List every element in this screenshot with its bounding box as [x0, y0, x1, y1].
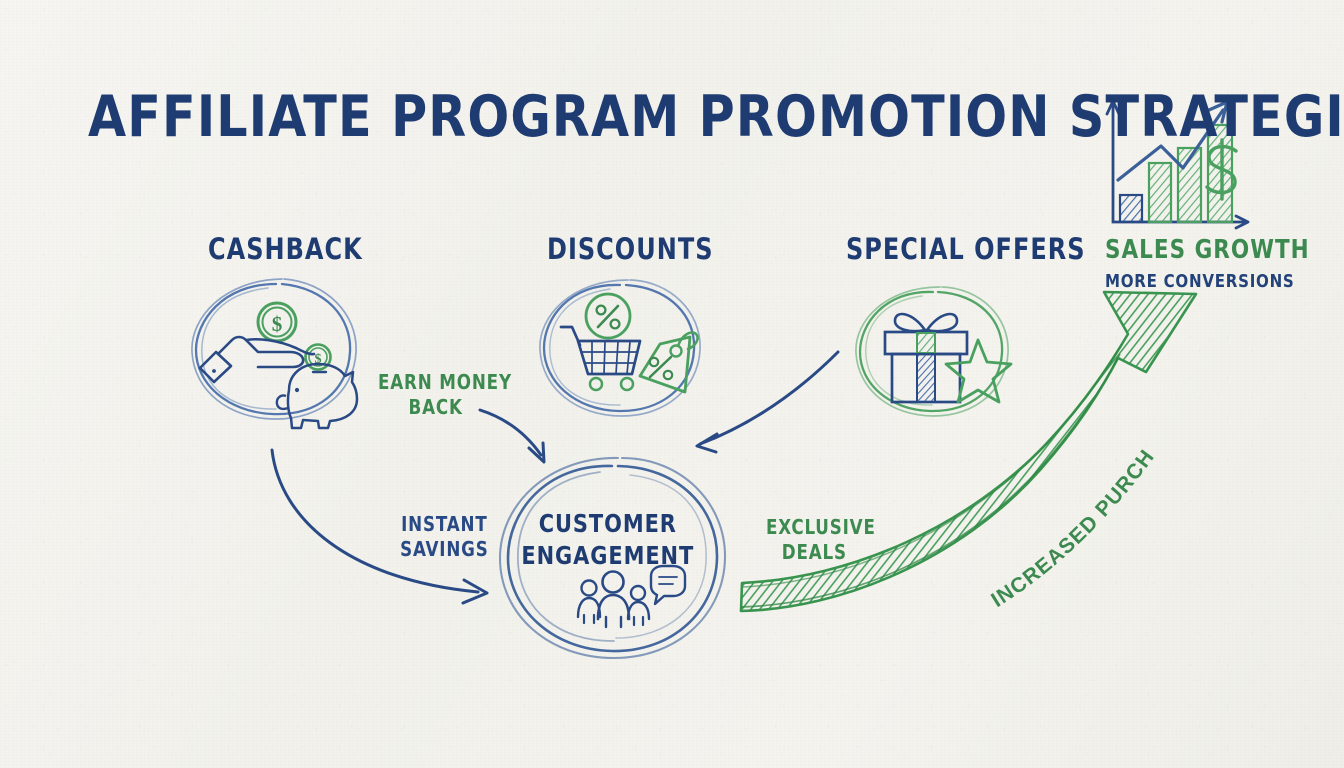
gift-box-star-icon [885, 314, 1011, 402]
connector-label-instant-savings: INSTANT SAVINGS [396, 512, 493, 562]
node-label-discounts: DISCOUNTS [547, 232, 714, 266]
node-label-special-offers: SPECIAL OFFERS [846, 232, 1086, 266]
connector-label-earn-money-back: EARN MONEY BACK [378, 370, 493, 420]
center-label-line1: CUSTOMER [512, 508, 704, 540]
arrow-special-offers-to-center [697, 352, 838, 452]
people-group-speech-bubble-icon [578, 566, 685, 627]
infographic-canvas: $ $ [0, 0, 1344, 768]
connector-label-line2: DEALS [766, 540, 863, 565]
connector-label-line1: EXCLUSIVE [766, 515, 863, 540]
connector-label-line2: BACK [378, 395, 493, 420]
center-node-label: CUSTOMER ENGAGEMENT [512, 508, 704, 572]
page-title: AFFILIATE PROGRAM PROMOTION STRATEGIES [88, 84, 1344, 150]
node-label-cashback: CASHBACK [208, 232, 363, 266]
hand-coin-piggybank-icon: $ $ [200, 303, 357, 428]
cashback-ring [192, 279, 356, 419]
discounts-ring [540, 280, 700, 416]
shopping-cart-percent-tag-icon [561, 294, 698, 392]
center-label-line2: ENGAGEMENT [512, 540, 704, 572]
connector-label-line1: INSTANT [396, 512, 493, 537]
connector-label-exclusive-deals: EXCLUSIVE DEALS [766, 515, 863, 565]
outcome-title: SALES GROWTH [1105, 235, 1310, 265]
connector-label-line1: EARN MONEY [378, 370, 493, 395]
svg-text:$: $ [272, 312, 283, 336]
outcome-subtitle: MORE CONVERSIONS [1105, 271, 1295, 292]
connector-label-line2: SAVINGS [396, 537, 493, 562]
